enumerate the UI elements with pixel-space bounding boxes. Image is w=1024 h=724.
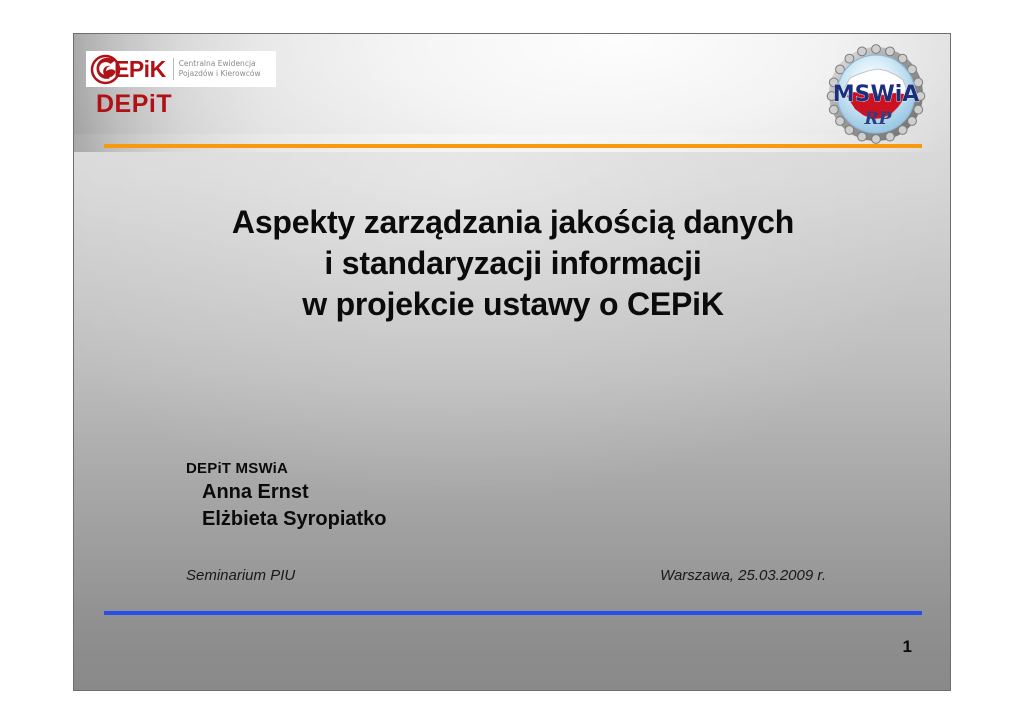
presenter-organization: DEPiT MSWiA [186, 459, 387, 479]
blue-divider-rule [104, 611, 922, 615]
slide-title-line-3: w projekcie ustawy o CEPiK [74, 284, 951, 325]
slide-title: Aspekty zarządzania jakością danych i st… [74, 202, 951, 325]
presenter-block: DEPiT MSWiA Anna Ernst Elżbieta Syropiat… [186, 459, 387, 533]
place-and-date: Warszawa, 25.03.2009 r. [660, 567, 826, 584]
slide-title-line-2: i standaryzacji informacji [74, 243, 951, 284]
mswia-emblem-icon: MSWiA RP [826, 44, 926, 144]
event-name: Seminarium PIU [186, 567, 295, 584]
cepik-subtitle: Centralna Ewidencja Pojazdów i Kierowców [179, 59, 261, 79]
cepik-subtitle-line2: Pojazdów i Kierowców [179, 69, 261, 78]
presentation-slide: EPiK Centralna Ewidencja Pojazdów i Kier… [73, 33, 951, 691]
cepik-logo: EPiK Centralna Ewidencja Pojazdów i Kier… [86, 51, 276, 87]
slide-page: EPiK Centralna Ewidencja Pojazdów i Kier… [0, 0, 1024, 724]
slide-page-number: 1 [903, 637, 912, 657]
cepik-wordmark: EPiK [114, 58, 166, 81]
presenter-name-2: Elżbieta Syropiatko [202, 506, 387, 533]
cepik-divider [173, 58, 174, 80]
slide-title-line-1: Aspekty zarządzania jakością danych [74, 202, 951, 243]
svg-text:MSWiA: MSWiA [833, 82, 920, 107]
svg-text:RP: RP [864, 109, 893, 129]
depit-brand-title: DEPiT [96, 92, 172, 117]
cepik-subtitle-line1: Centralna Ewidencja [179, 59, 256, 68]
presenter-name-1: Anna Ernst [202, 479, 387, 506]
orange-divider-rule [104, 144, 922, 148]
slide-meta-row: Seminarium PIU Warszawa, 25.03.2009 r. [186, 567, 826, 584]
